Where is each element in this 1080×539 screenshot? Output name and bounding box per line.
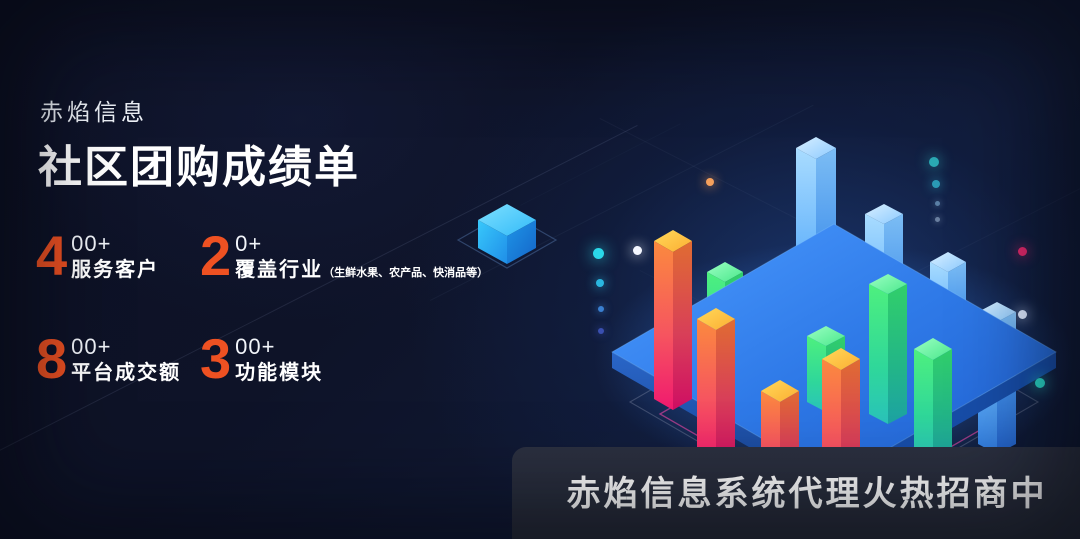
stat-suffix: 0+: [235, 234, 488, 254]
stat-number: 4: [36, 230, 67, 282]
isometric-bar-chart: [588, 112, 1080, 462]
stat-label: 平台成交额: [71, 360, 181, 389]
stat-item-3: 3 00+ 功能模块: [200, 333, 323, 389]
bar-5-front: [822, 348, 860, 462]
stat-item-1: 2 0+ 覆盖行业（生鲜水果、农产品、快消品等）: [200, 230, 488, 286]
dot-cyan-sm: [598, 306, 604, 312]
cta-banner[interactable]: 赤焰信息系统代理火热招商中: [512, 447, 1080, 539]
stat-suffix: 00+: [71, 337, 181, 357]
promo-banner-image: 赤焰信息 社区团购成绩单 4 00+ 服务客户 2 0+ 覆盖行业（生鲜水果、农…: [0, 0, 1080, 539]
dot-teal-sm: [935, 201, 940, 206]
dot-cyan-lg: [593, 248, 604, 259]
dot-orange: [706, 178, 714, 186]
dot-teal-md: [932, 180, 940, 188]
cta-banner-text: 赤焰信息系统代理火热招商中: [545, 466, 1048, 521]
dot-cyan-xs: [598, 328, 604, 334]
stat-suffix: 00+: [71, 234, 159, 254]
stat-item-2: 8 00+ 平台成交额: [36, 333, 181, 389]
dot-white-2: [1018, 310, 1027, 319]
isometric-cube-icon: [452, 190, 562, 276]
stat-suffix: 00+: [235, 337, 323, 357]
stat-label: 覆盖行业（生鲜水果、农产品、快消品等）: [235, 257, 488, 286]
bar-1: [654, 230, 692, 410]
dot-cyan-md: [596, 279, 604, 287]
stat-label-text: 覆盖行业: [235, 259, 323, 281]
dot-teal-lg: [929, 157, 939, 167]
page-title: 社区团购成绩单: [38, 131, 360, 195]
dot-pink: [1018, 247, 1027, 256]
stat-label-text: 功能模块: [235, 362, 323, 384]
dot-teal-xs: [935, 217, 940, 222]
bar-11: [914, 338, 952, 462]
stat-label: 功能模块: [235, 360, 323, 389]
bar-9: [869, 274, 907, 424]
stat-number: 8: [36, 333, 67, 385]
stat-number: 2: [200, 230, 231, 282]
stat-label-text: 平台成交额: [71, 362, 181, 384]
stat-label-text: 服务客户: [71, 259, 159, 281]
brand-name: 赤焰信息: [40, 93, 148, 127]
dot-white: [633, 246, 642, 255]
stat-number: 3: [200, 333, 231, 385]
stat-label: 服务客户: [71, 257, 159, 286]
bar-2: [697, 308, 735, 462]
dot-cyan-2: [1035, 378, 1045, 388]
stat-item-0: 4 00+ 服务客户: [36, 230, 159, 286]
